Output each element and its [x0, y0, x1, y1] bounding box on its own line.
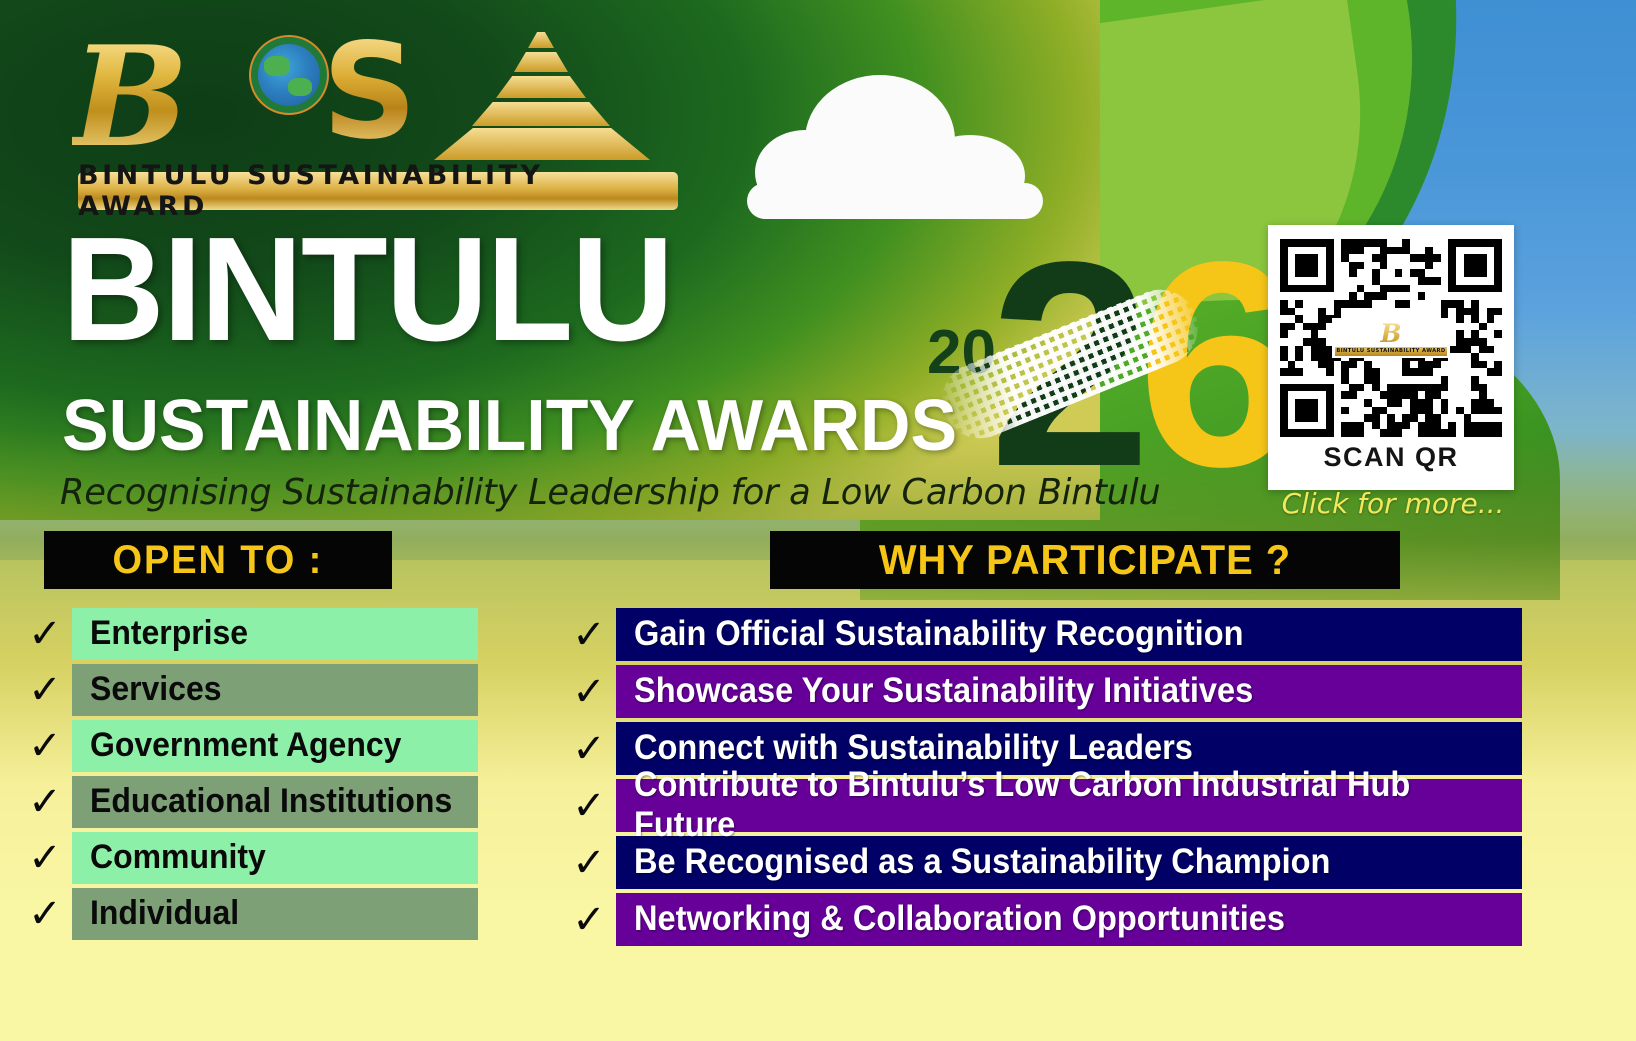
globe-icon [258, 44, 320, 106]
why-participate-row-4: Contribute to Bintulu’s Low Carbon Indus… [616, 779, 1522, 832]
qr-logo-text: B [1380, 321, 1401, 346]
qr-logo-plate: BINTULU SUSTAINABILITY AWARD [1335, 347, 1447, 356]
check-icon: ✓ [18, 888, 72, 940]
qr-code-image[interactable]: B BINTULU SUSTAINABILITY AWARD [1280, 239, 1502, 437]
open-to-row-3: Government Agency [72, 720, 478, 772]
open-to-row-5: Community [72, 832, 478, 884]
open-to-row-1: Enterprise [72, 608, 478, 660]
page-title: BINTULU [62, 222, 672, 358]
year-graphic: 2 6 20 [915, 230, 1225, 520]
list-item-label: Be Recognised as a Sustainability Champi… [634, 842, 1330, 882]
check-icon: ✓ [562, 836, 616, 889]
tower-icon [432, 32, 652, 160]
qr-code-card[interactable]: B BINTULU SUSTAINABILITY AWARD SCAN QR [1268, 225, 1514, 490]
list-item: ✓Individual [18, 888, 478, 940]
year-digit-2: 2 [989, 218, 1151, 510]
qr-embedded-logo: B BINTULU SUSTAINABILITY AWARD [1332, 318, 1450, 358]
list-item-label: Community [90, 838, 266, 877]
list-item-label: Contribute to Bintulu’s Low Carbon Indus… [634, 765, 1460, 845]
open-to-row-6: Individual [72, 888, 478, 940]
logo-letter-s: S [322, 26, 417, 158]
list-item: ✓Contribute to Bintulu’s Low Carbon Indu… [562, 779, 1522, 832]
list-item-label: Networking & Collaboration Opportunities [634, 899, 1285, 939]
list-item-label: Enterprise [90, 614, 248, 653]
list-item: ✓Gain Official Sustainability Recognitio… [562, 608, 1522, 661]
check-icon: ✓ [562, 893, 616, 946]
list-item: ✓Government Agency [18, 720, 478, 772]
check-icon: ✓ [562, 665, 616, 718]
list-item-label: Connect with Sustainability Leaders [634, 728, 1193, 768]
why-participate-list: ✓Gain Official Sustainability Recognitio… [562, 608, 1522, 950]
poster-canvas: B S BINTULU SUSTAINABILITY AWARD BINTULU… [0, 0, 1636, 1041]
page-subtitle: SUSTAINABILITY AWARDS [62, 390, 957, 462]
check-icon: ✓ [18, 608, 72, 660]
list-item: ✓Enterprise [18, 608, 478, 660]
list-item-label: Gain Official Sustainability Recognition [634, 614, 1243, 654]
why-participate-banner: WHY PARTICIPATE ? [770, 531, 1400, 589]
list-item-label: Government Agency [90, 726, 401, 765]
why-participate-row-1: Gain Official Sustainability Recognition [616, 608, 1522, 661]
list-item: ✓Educational Institutions [18, 776, 478, 828]
bisa-logo: B S BINTULU SUSTAINABILITY AWARD [72, 22, 672, 212]
check-icon: ✓ [18, 720, 72, 772]
check-icon: ✓ [562, 722, 616, 775]
check-icon: ✓ [562, 608, 616, 661]
open-to-banner: OPEN TO : [44, 531, 392, 589]
check-icon: ✓ [18, 664, 72, 716]
why-participate-row-6: Networking & Collaboration Opportunities [616, 893, 1522, 946]
why-participate-row-2: Showcase Your Sustainability Initiatives [616, 665, 1522, 718]
qr-caption: SCAN QR [1280, 442, 1502, 473]
list-item-label: Educational Institutions [90, 782, 452, 821]
open-to-title: OPEN TO : [113, 538, 324, 583]
list-item: ✓Services [18, 664, 478, 716]
list-item: ✓Showcase Your Sustainability Initiative… [562, 665, 1522, 718]
open-to-row-2: Services [72, 664, 478, 716]
list-item: ✓Networking & Collaboration Opportunitie… [562, 893, 1522, 946]
logo-letter-b: B [72, 28, 189, 166]
logo-nameplate: BINTULU SUSTAINABILITY AWARD [78, 172, 678, 210]
open-to-row-4: Educational Institutions [72, 776, 478, 828]
year-prefix: 20 [927, 322, 996, 384]
list-item-label: Showcase Your Sustainability Initiatives [634, 671, 1253, 711]
logo-mark: B S [72, 22, 672, 167]
list-item-label: Individual [90, 894, 239, 933]
why-participate-title: WHY PARTICIPATE ? [879, 536, 1291, 584]
list-item-label: Services [90, 670, 222, 709]
check-icon: ✓ [562, 779, 616, 832]
list-item: ✓Community [18, 832, 478, 884]
open-to-list: ✓Enterprise✓Services✓Government Agency✓E… [18, 608, 478, 944]
click-for-more-link[interactable]: Click for more... [1268, 487, 1518, 520]
check-icon: ✓ [18, 832, 72, 884]
check-icon: ✓ [18, 776, 72, 828]
